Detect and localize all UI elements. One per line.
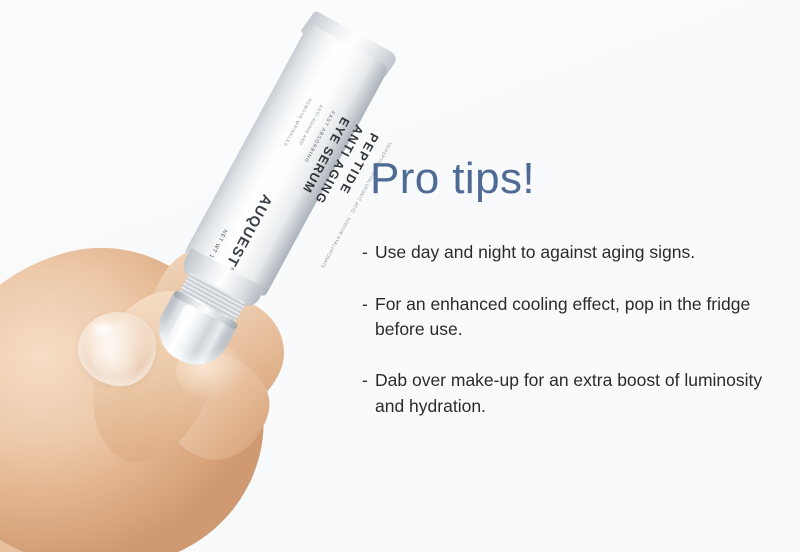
bullet-marker: - bbox=[362, 240, 375, 265]
list-item: - Dab over make-up for an extra boost of… bbox=[362, 368, 782, 419]
copy-panel: Pro tips! - Use day and night to against… bbox=[362, 156, 782, 419]
page-title: Pro tips! bbox=[370, 156, 782, 202]
list-item: - For an enhanced cooling effect, pop in… bbox=[362, 292, 782, 343]
tip-text: For an enhanced cooling effect, pop in t… bbox=[375, 292, 782, 343]
tip-text: Dab over make-up for an extra boost of l… bbox=[375, 368, 782, 419]
list-item: - Use day and night to against aging sig… bbox=[362, 240, 782, 265]
tip-text: Use day and night to against aging signs… bbox=[375, 240, 782, 265]
product-promo-banner: TRIPEPTIDE · HYALURONIC ACID · SODIUM HY… bbox=[0, 0, 800, 552]
serum-droplet-highlight bbox=[90, 320, 116, 338]
bullet-marker: - bbox=[362, 292, 375, 317]
bullet-marker: - bbox=[362, 368, 375, 393]
tips-list: - Use day and night to against aging sig… bbox=[362, 240, 782, 419]
